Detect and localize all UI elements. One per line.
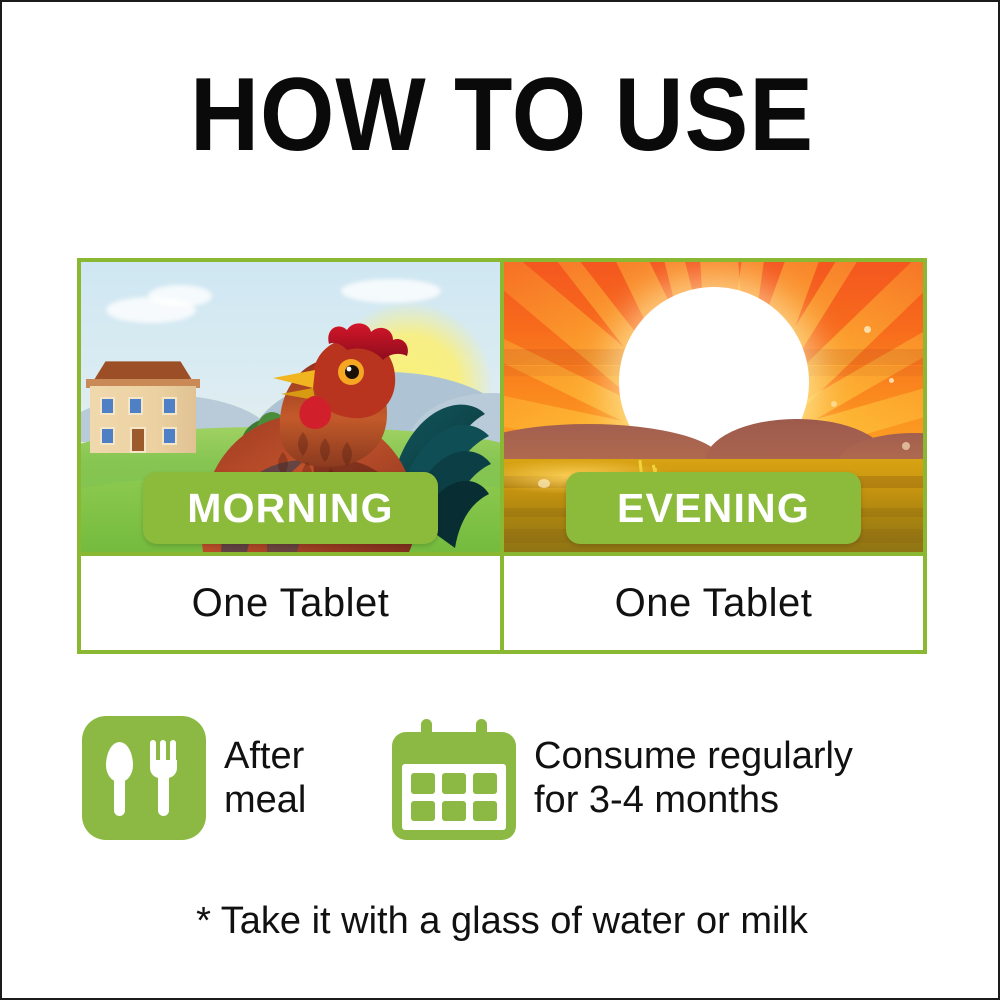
calendar-day-cell bbox=[411, 801, 435, 822]
instruction-after-meal: After meal bbox=[82, 716, 392, 840]
house-window bbox=[100, 397, 115, 415]
instruction-line-1: Consume regularly bbox=[534, 735, 853, 777]
house-door bbox=[130, 427, 146, 453]
dosage-table: MORNING bbox=[77, 258, 927, 654]
house-window bbox=[128, 397, 143, 415]
light-spark bbox=[538, 479, 550, 488]
time-banner-evening: EVENING bbox=[566, 472, 861, 544]
spoon-fork-icon bbox=[82, 716, 206, 840]
dosage-cell-evening-dose: One Tablet bbox=[504, 556, 923, 650]
dose-text-morning: One Tablet bbox=[81, 556, 500, 650]
house-window bbox=[100, 427, 115, 445]
calendar-day-cell bbox=[473, 773, 497, 794]
dosage-label-row: One Tablet One Tablet bbox=[81, 556, 923, 650]
calendar-grid bbox=[402, 764, 506, 830]
page-title: HOW TO USE bbox=[42, 60, 962, 170]
instructions-row: After meal Consume regularly bbox=[82, 716, 942, 840]
fork-handle bbox=[158, 764, 169, 816]
light-spark bbox=[831, 401, 837, 407]
light-spark bbox=[902, 442, 910, 450]
instruction-text-consume-regularly: Consume regularly for 3-4 months bbox=[534, 734, 853, 822]
calendar-icon bbox=[392, 716, 516, 840]
spoon-handle bbox=[114, 776, 125, 816]
calendar-day-cell bbox=[411, 773, 435, 794]
calendar-day-cell bbox=[442, 801, 466, 822]
infographic-page: HOW TO USE bbox=[0, 0, 1000, 1000]
instruction-line-1: After bbox=[224, 735, 304, 777]
calendar-day-cell bbox=[473, 801, 497, 822]
time-label-evening: EVENING bbox=[617, 485, 810, 532]
footnote-text: * Take it with a glass of water or milk bbox=[2, 900, 1000, 943]
calendar-day-cell bbox=[442, 773, 466, 794]
dosage-cell-evening-image: EVENING bbox=[504, 262, 923, 552]
instruction-text-after-meal: After meal bbox=[224, 734, 306, 822]
dosage-cell-morning-image: MORNING bbox=[81, 262, 504, 552]
instruction-consume-regularly: Consume regularly for 3-4 months bbox=[392, 716, 853, 840]
dosage-cell-morning-dose: One Tablet bbox=[81, 556, 504, 650]
time-banner-morning: MORNING bbox=[143, 472, 438, 544]
dose-text-evening: One Tablet bbox=[504, 556, 923, 650]
instruction-line-2: meal bbox=[224, 778, 306, 822]
dosage-image-row: MORNING bbox=[81, 262, 923, 556]
instruction-line-2: for 3-4 months bbox=[534, 778, 853, 822]
time-label-morning: MORNING bbox=[187, 485, 394, 532]
